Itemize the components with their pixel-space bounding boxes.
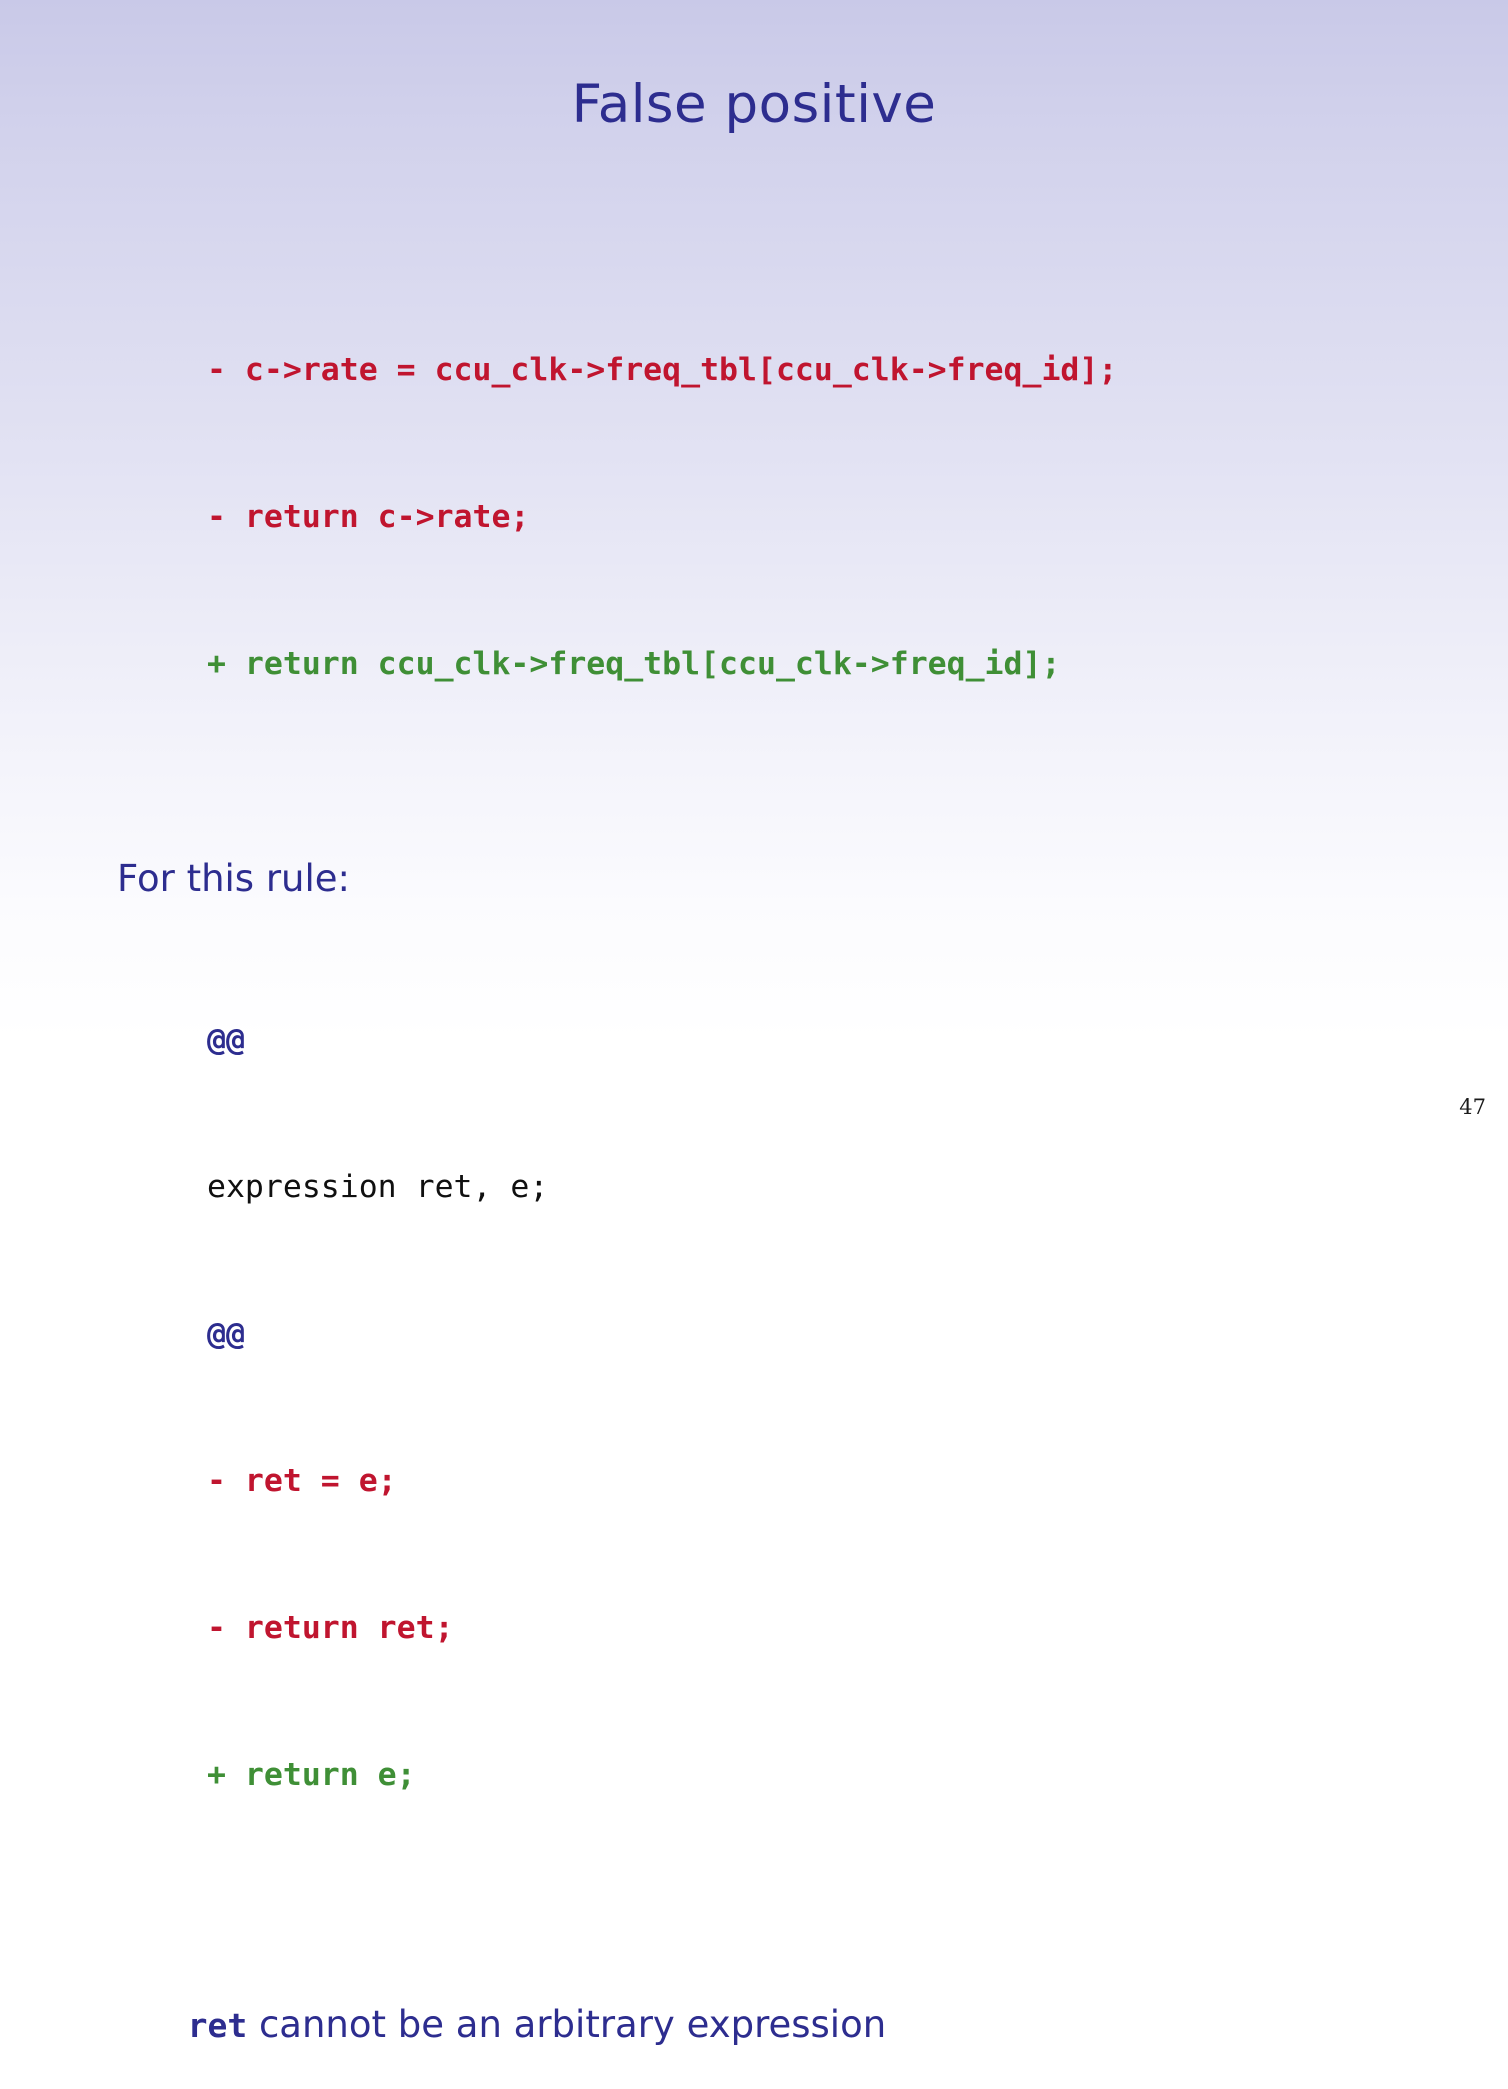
diff-line-removed: - ret = e; xyxy=(207,1457,1447,1506)
slide-content: - c->rate = ccu_clk->freq_tbl[ccu_clk->f… xyxy=(117,248,1447,2089)
hunk-header: @@ xyxy=(207,1310,1447,1359)
rule-metavariable-declaration: expression ret, e; xyxy=(207,1163,1447,1212)
diff-line-removed: - return ret; xyxy=(207,1604,1447,1653)
spacer xyxy=(117,1898,1447,1960)
spacer xyxy=(117,787,1447,857)
diff-line-added: + return ccu_clk->freq_tbl[ccu_clk->freq… xyxy=(207,640,1447,689)
slide: False positive - c->rate = ccu_clk->freq… xyxy=(0,0,1508,1131)
spacer xyxy=(117,900,1447,918)
top-diff-block: - c->rate = ccu_clk->freq_tbl[ccu_clk->f… xyxy=(207,248,1447,787)
rule-block: @@ expression ret, e; @@ - ret = e; - re… xyxy=(207,918,1447,1898)
rule-intro-text: For this rule: xyxy=(117,857,1447,900)
page-title: False positive xyxy=(0,74,1508,135)
diff-line-removed: - return c->rate; xyxy=(207,493,1447,542)
conclusion-mono-term: ret xyxy=(188,2006,248,2045)
page-number: 47 xyxy=(1459,1095,1486,1119)
hunk-header: @@ xyxy=(207,1016,1447,1065)
diff-line-removed: - c->rate = ccu_clk->freq_tbl[ccu_clk->f… xyxy=(207,346,1447,395)
conclusion-text: ret cannot be an arbitrary expression xyxy=(117,1960,1447,2089)
conclusion-rest: cannot be an arbitrary expression xyxy=(247,2003,886,2046)
diff-line-added: + return e; xyxy=(207,1751,1447,1800)
